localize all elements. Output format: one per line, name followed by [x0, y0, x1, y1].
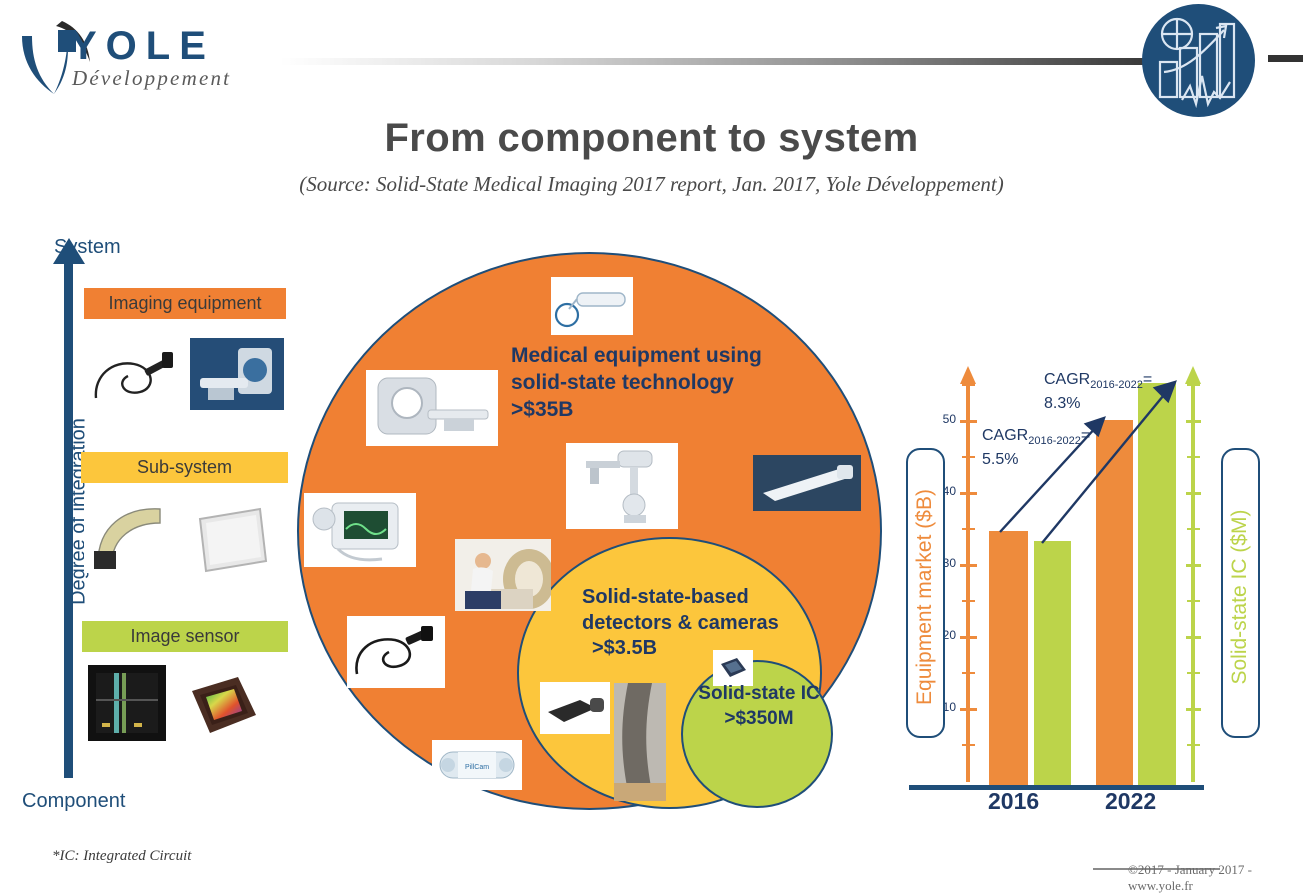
ytick-right [1186, 564, 1201, 567]
ytick-minor [962, 528, 975, 530]
ct-scanner-large-photo [366, 370, 498, 446]
ytick-right-minor [1187, 528, 1200, 530]
ytick-right [1186, 636, 1201, 639]
dental-panoramic-xray-photo [566, 443, 678, 529]
xtick-label-2016: 2016 [988, 788, 1039, 815]
patient-in-mri-photo [455, 539, 551, 611]
curved-detector-module-photo [84, 497, 178, 573]
ytick-right-minor [1187, 672, 1200, 674]
endoscope-cable-photo [347, 616, 445, 688]
venn-outer-label: Medical equipment using solid-state tech… [511, 343, 821, 424]
venn-inner-label: Solid-state IC >$350M [679, 682, 839, 731]
ytick-right [1186, 492, 1201, 495]
venn-outer-line1: Medical equipment using [511, 343, 821, 370]
ytick-minor [962, 672, 975, 674]
band-sub-system: Sub-system [81, 452, 288, 483]
ytick-right-minor [1187, 600, 1200, 602]
venn-outer-line2: solid-state technology [511, 370, 821, 397]
venn-middle-line1: Solid-state-based [582, 585, 842, 611]
category-axis [909, 785, 1204, 790]
ultrasound-probe-photo [540, 682, 610, 734]
cagr-green-prefix: CAGR [1044, 371, 1090, 388]
venn-inner-amount: >$350M [679, 707, 839, 732]
cagr-orange-prefix: CAGR [982, 427, 1028, 444]
ytick-minor [962, 384, 975, 386]
ytick-50 [960, 420, 977, 423]
ccd-sensor-die-photo [88, 665, 166, 741]
cagr-orange-value: 5.5% [982, 451, 1018, 468]
logo-wordmark: YOLE [70, 24, 215, 69]
left-value-axis [966, 382, 970, 782]
footnote-ic: *IC: Integrated Circuit [52, 848, 191, 865]
cmos-image-sensor-chip-photo [176, 665, 268, 747]
cagr-orange-sub: 2016-2022 [1028, 435, 1081, 447]
venn-middle-amount: >$3.5B [582, 636, 842, 662]
bar-2016-ic [1034, 541, 1071, 785]
svg-text:PillCam: PillCam [465, 764, 489, 771]
header-divider [280, 58, 1185, 65]
cagr-orange-eq: = [1081, 427, 1090, 444]
flexible-detector-photo [614, 683, 666, 801]
mobile-xray-cart-photo [304, 493, 416, 567]
ytick-minor [962, 600, 975, 602]
flat-panel-detector-photo [186, 499, 278, 579]
yole-chart-badge-icon [1142, 4, 1255, 117]
dental-intraoral-sensor-photo [753, 455, 861, 511]
right-value-axis [1191, 382, 1195, 782]
right-axis-title: Solid-state IC ($M) [1228, 452, 1252, 742]
ytick-minor [962, 744, 975, 746]
ytick-right [1186, 708, 1201, 711]
ytick-30 [960, 564, 977, 567]
ytick-10 [960, 708, 977, 711]
bar-2022-ic [1138, 383, 1176, 785]
left-axis-title: Equipment market ($B) [913, 452, 937, 742]
cagr-orange-annotation: CAGR2016-2022= 5.5% [982, 425, 1132, 471]
axis-bottom-label: Component [22, 790, 125, 813]
venn-inner-line1: Solid-state IC [679, 682, 839, 707]
capsule-endoscope-photo: PillCam [432, 740, 522, 790]
cagr-green-value: 8.3% [1044, 395, 1080, 412]
logo-tagline: Développement [72, 66, 231, 91]
ytick-right-minor [1187, 744, 1200, 746]
page-title: From component to system [0, 116, 1303, 161]
ytick-20 [960, 636, 977, 639]
yole-logo: YOLE Développement [10, 8, 270, 108]
ytick-label-50: 50 [932, 412, 956, 426]
cagr-green-sub: 2016-2022 [1090, 379, 1143, 391]
bar-2016-equipment [989, 531, 1028, 785]
ytick-minor [962, 456, 975, 458]
venn-middle-label: Solid-state-based detectors & cameras >$… [582, 585, 842, 662]
venn-outer-amount: >$35B [511, 397, 821, 424]
band-imaging-equipment: Imaging equipment [84, 288, 286, 319]
endoscope-photo [88, 336, 188, 410]
xtick-label-2022: 2022 [1105, 788, 1156, 815]
intraoral-scanner-photo [551, 277, 633, 335]
ytick-40 [960, 492, 977, 495]
ytick-right [1186, 420, 1201, 423]
cagr-green-eq: = [1143, 371, 1152, 388]
ytick-right-minor [1187, 456, 1200, 458]
ct-scanner-photo [190, 338, 284, 410]
cagr-green-annotation: CAGR2016-2022= 8.3% [1044, 369, 1204, 415]
footer-copyright: ©2017 - January 2017 - www.yole.fr [1128, 862, 1303, 894]
band-image-sensor: Image sensor [82, 621, 288, 652]
bar-2022-equipment [1096, 420, 1133, 785]
badge-tail-rule [1268, 55, 1303, 62]
page-subtitle: (Source: Solid-State Medical Imaging 201… [0, 172, 1303, 197]
venn-middle-line2: detectors & cameras [582, 611, 842, 637]
slide-root: YOLE Développement From component to sys… [0, 0, 1303, 886]
